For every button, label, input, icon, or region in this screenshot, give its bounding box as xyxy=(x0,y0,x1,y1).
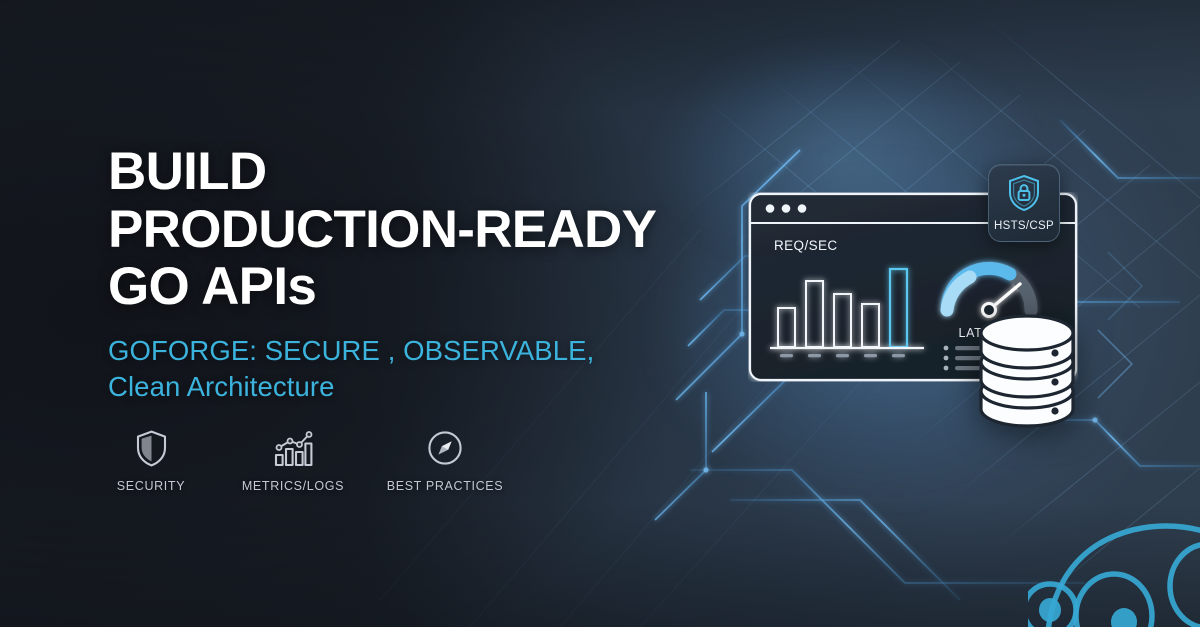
shield-icon xyxy=(136,428,167,468)
status-badge-hsts-csp[interactable]: HSTS/CSP xyxy=(988,164,1060,242)
database-cylinder-icon xyxy=(975,305,1079,433)
headline-line-3: GO APIs xyxy=(108,258,728,316)
feature-label-best-practices: BEST PRACTICES xyxy=(387,479,504,493)
feature-label-security: SECURITY xyxy=(117,479,185,493)
badge-label: HSTS/CSP xyxy=(994,220,1054,232)
window-dots xyxy=(766,204,807,213)
subheadline-line-1: GOFORGE: SECURE , OBSERVABLE, xyxy=(108,333,728,370)
feature-label-metrics: METRICS/LOGS xyxy=(242,479,344,493)
subheadline-line-2: Clean Architecture xyxy=(108,369,728,406)
headline-line-1: BUILD xyxy=(108,143,728,201)
hero-banner: BUILD PRODUCTION-READY GO APIs GOFORGE: … xyxy=(0,0,1200,627)
feature-item-best-practices: BEST PRACTICES xyxy=(382,428,508,493)
hero-text-block: BUILD PRODUCTION-READY GO APIs GOFORGE: … xyxy=(108,143,728,406)
feature-item-metrics: METRICS/LOGS xyxy=(234,428,352,493)
compass-icon xyxy=(427,428,463,468)
feature-list: SECURITY xyxy=(98,428,508,493)
feature-item-security: SECURITY xyxy=(98,428,204,493)
page-title: BUILD PRODUCTION-READY GO APIs xyxy=(108,143,728,316)
metric-label: REQ/SEC xyxy=(774,238,838,253)
headline-line-2: PRODUCTION-READY xyxy=(108,201,728,259)
page-subtitle: GOFORGE: SECURE , OBSERVABLE, Clean Arch… xyxy=(108,333,728,406)
bar-chart-trend-icon xyxy=(274,428,313,468)
illustration-group: REQ/SEC xyxy=(680,60,1200,530)
shield-lock-icon xyxy=(1007,174,1041,217)
